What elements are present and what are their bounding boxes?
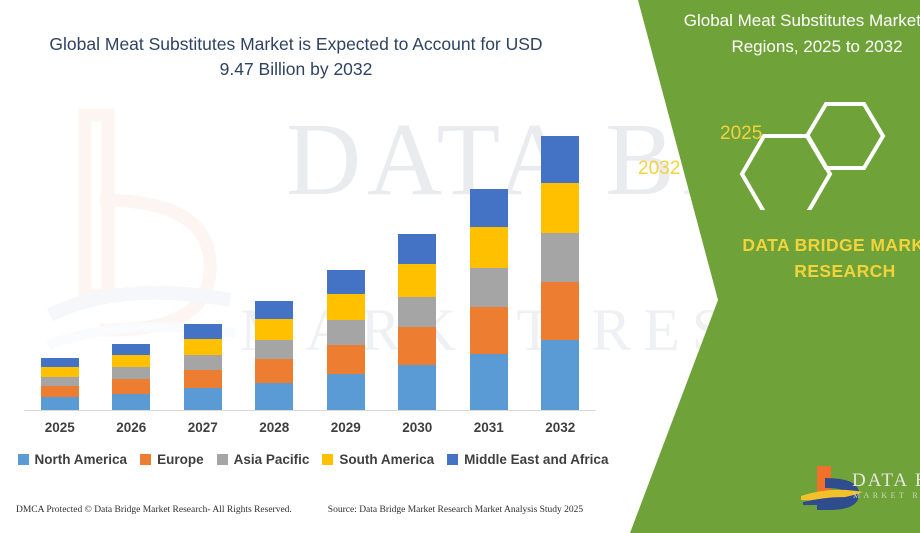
green-side-panel: Global Meat Substitutes Market, By Regio… bbox=[600, 0, 920, 533]
bar-segment-asia-pacific[interactable] bbox=[470, 268, 508, 307]
bar-segment-asia-pacific[interactable] bbox=[327, 320, 365, 345]
bar-segment-north-america[interactable] bbox=[470, 354, 508, 410]
bar-2032[interactable] bbox=[541, 136, 579, 410]
legend-item-south-america[interactable]: South America bbox=[322, 452, 434, 467]
chart-title: Global Meat Substitutes Market is Expect… bbox=[36, 32, 556, 83]
bar-segment-europe[interactable] bbox=[327, 345, 365, 375]
bar-segment-middle-east-and-africa[interactable] bbox=[398, 234, 436, 264]
legend-label: South America bbox=[339, 452, 434, 467]
bar-2028[interactable] bbox=[255, 301, 293, 410]
bar-segment-south-america[interactable] bbox=[398, 264, 436, 297]
bar-segment-north-america[interactable] bbox=[112, 394, 150, 411]
legend-item-middle-east-and-africa[interactable]: Middle East and Africa bbox=[447, 452, 608, 467]
bar-segment-europe[interactable] bbox=[541, 282, 579, 340]
x-axis-label-2029: 2029 bbox=[311, 420, 381, 435]
x-axis-label-2030: 2030 bbox=[382, 420, 452, 435]
bar-segment-south-america[interactable] bbox=[327, 294, 365, 320]
bar-segment-north-america[interactable] bbox=[184, 388, 222, 410]
bar-segment-asia-pacific[interactable] bbox=[398, 297, 436, 328]
logo-subwordmark: MARKET RESEARCH bbox=[853, 491, 920, 500]
legend-label: Middle East and Africa bbox=[464, 452, 608, 467]
bar-segment-south-america[interactable] bbox=[184, 339, 222, 355]
bar-segment-north-america[interactable] bbox=[41, 397, 79, 410]
chart-legend: North AmericaEuropeAsia PacificSouth Ame… bbox=[18, 452, 608, 467]
legend-swatch-icon bbox=[322, 454, 333, 465]
bar-2030[interactable] bbox=[398, 234, 436, 410]
bar-segment-middle-east-and-africa[interactable] bbox=[470, 189, 508, 227]
footer: DMCA Protected © Data Bridge Market Rese… bbox=[16, 505, 616, 515]
legend-item-north-america[interactable]: North America bbox=[18, 452, 128, 467]
footer-dmca-text: DMCA Protected © Data Bridge Market Rese… bbox=[16, 505, 292, 515]
legend-swatch-icon bbox=[140, 454, 151, 465]
bar-segment-middle-east-and-africa[interactable] bbox=[327, 270, 365, 294]
hexagon-2025-icon bbox=[807, 104, 883, 168]
bar-segment-asia-pacific[interactable] bbox=[41, 377, 79, 386]
bar-segment-middle-east-and-africa[interactable] bbox=[255, 301, 293, 320]
x-axis-label-2031: 2031 bbox=[454, 420, 524, 435]
bar-segment-europe[interactable] bbox=[184, 370, 222, 388]
panel-content: Global Meat Substitutes Market, By Regio… bbox=[600, 0, 920, 533]
bar-2029[interactable] bbox=[327, 270, 365, 410]
bar-segment-europe[interactable] bbox=[41, 386, 79, 397]
bar-segment-middle-east-and-africa[interactable] bbox=[184, 324, 222, 339]
logo-wordmark: DATA BRIDGE bbox=[852, 470, 920, 492]
bar-2025[interactable] bbox=[41, 358, 79, 410]
bar-2026[interactable] bbox=[112, 344, 150, 410]
bar-segment-north-america[interactable] bbox=[255, 383, 293, 411]
bar-segment-europe[interactable] bbox=[398, 327, 436, 365]
x-axis-label-2027: 2027 bbox=[168, 420, 238, 435]
bar-segment-europe[interactable] bbox=[470, 307, 508, 354]
hexagon-2032-label: 2032 bbox=[638, 158, 680, 180]
legend-label: North America bbox=[35, 452, 128, 467]
x-axis-label-2032: 2032 bbox=[525, 420, 595, 435]
bar-chart-plot bbox=[24, 120, 596, 411]
legend-swatch-icon bbox=[18, 454, 29, 465]
bar-segment-asia-pacific[interactable] bbox=[112, 367, 150, 379]
bar-segment-asia-pacific[interactable] bbox=[255, 340, 293, 359]
bar-segment-middle-east-and-africa[interactable] bbox=[541, 136, 579, 183]
legend-swatch-icon bbox=[217, 454, 228, 465]
bar-segment-europe[interactable] bbox=[255, 359, 293, 382]
bar-2031[interactable] bbox=[470, 189, 508, 410]
hexagon-pair-icon bbox=[730, 100, 920, 210]
footer-source-text: Source: Data Bridge Market Research Mark… bbox=[328, 505, 583, 515]
x-axis-label-2025: 2025 bbox=[25, 420, 95, 435]
brand-text: DATA BRIDGE MARKET RESEARCH bbox=[720, 232, 920, 285]
bar-segment-north-america[interactable] bbox=[541, 340, 579, 410]
bar-segment-south-america[interactable] bbox=[255, 319, 293, 339]
bar-segment-south-america[interactable] bbox=[541, 183, 579, 233]
bar-segment-middle-east-and-africa[interactable] bbox=[112, 344, 150, 355]
bar-segment-asia-pacific[interactable] bbox=[184, 355, 222, 370]
legend-item-europe[interactable]: Europe bbox=[140, 452, 204, 467]
bar-segment-south-america[interactable] bbox=[470, 227, 508, 268]
bar-segment-middle-east-and-africa[interactable] bbox=[41, 358, 79, 367]
infographic-page: DATA BRIDGE MARKET RESEARCH Global Meat … bbox=[0, 0, 920, 533]
panel-title: Global Meat Substitutes Market, By Regio… bbox=[672, 8, 920, 59]
bar-2027[interactable] bbox=[184, 324, 222, 410]
x-axis-line bbox=[24, 410, 596, 411]
chart-pane: Global Meat Substitutes Market is Expect… bbox=[0, 0, 640, 533]
bar-segment-south-america[interactable] bbox=[41, 367, 79, 377]
legend-label: Europe bbox=[157, 452, 204, 467]
legend-swatch-icon bbox=[447, 454, 458, 465]
bar-segment-asia-pacific[interactable] bbox=[541, 233, 579, 281]
bar-segment-europe[interactable] bbox=[112, 379, 150, 393]
bar-segment-north-america[interactable] bbox=[398, 365, 436, 410]
legend-item-asia-pacific[interactable]: Asia Pacific bbox=[217, 452, 310, 467]
x-axis-labels: 20252026202720282029203020312032 bbox=[24, 420, 596, 444]
legend-label: Asia Pacific bbox=[234, 452, 310, 467]
bar-segment-south-america[interactable] bbox=[112, 355, 150, 367]
bar-segment-north-america[interactable] bbox=[327, 374, 365, 410]
hexagon-2025-label: 2025 bbox=[720, 123, 762, 145]
hexagon-2032-icon bbox=[742, 136, 830, 210]
x-axis-label-2026: 2026 bbox=[96, 420, 166, 435]
x-axis-label-2028: 2028 bbox=[239, 420, 309, 435]
